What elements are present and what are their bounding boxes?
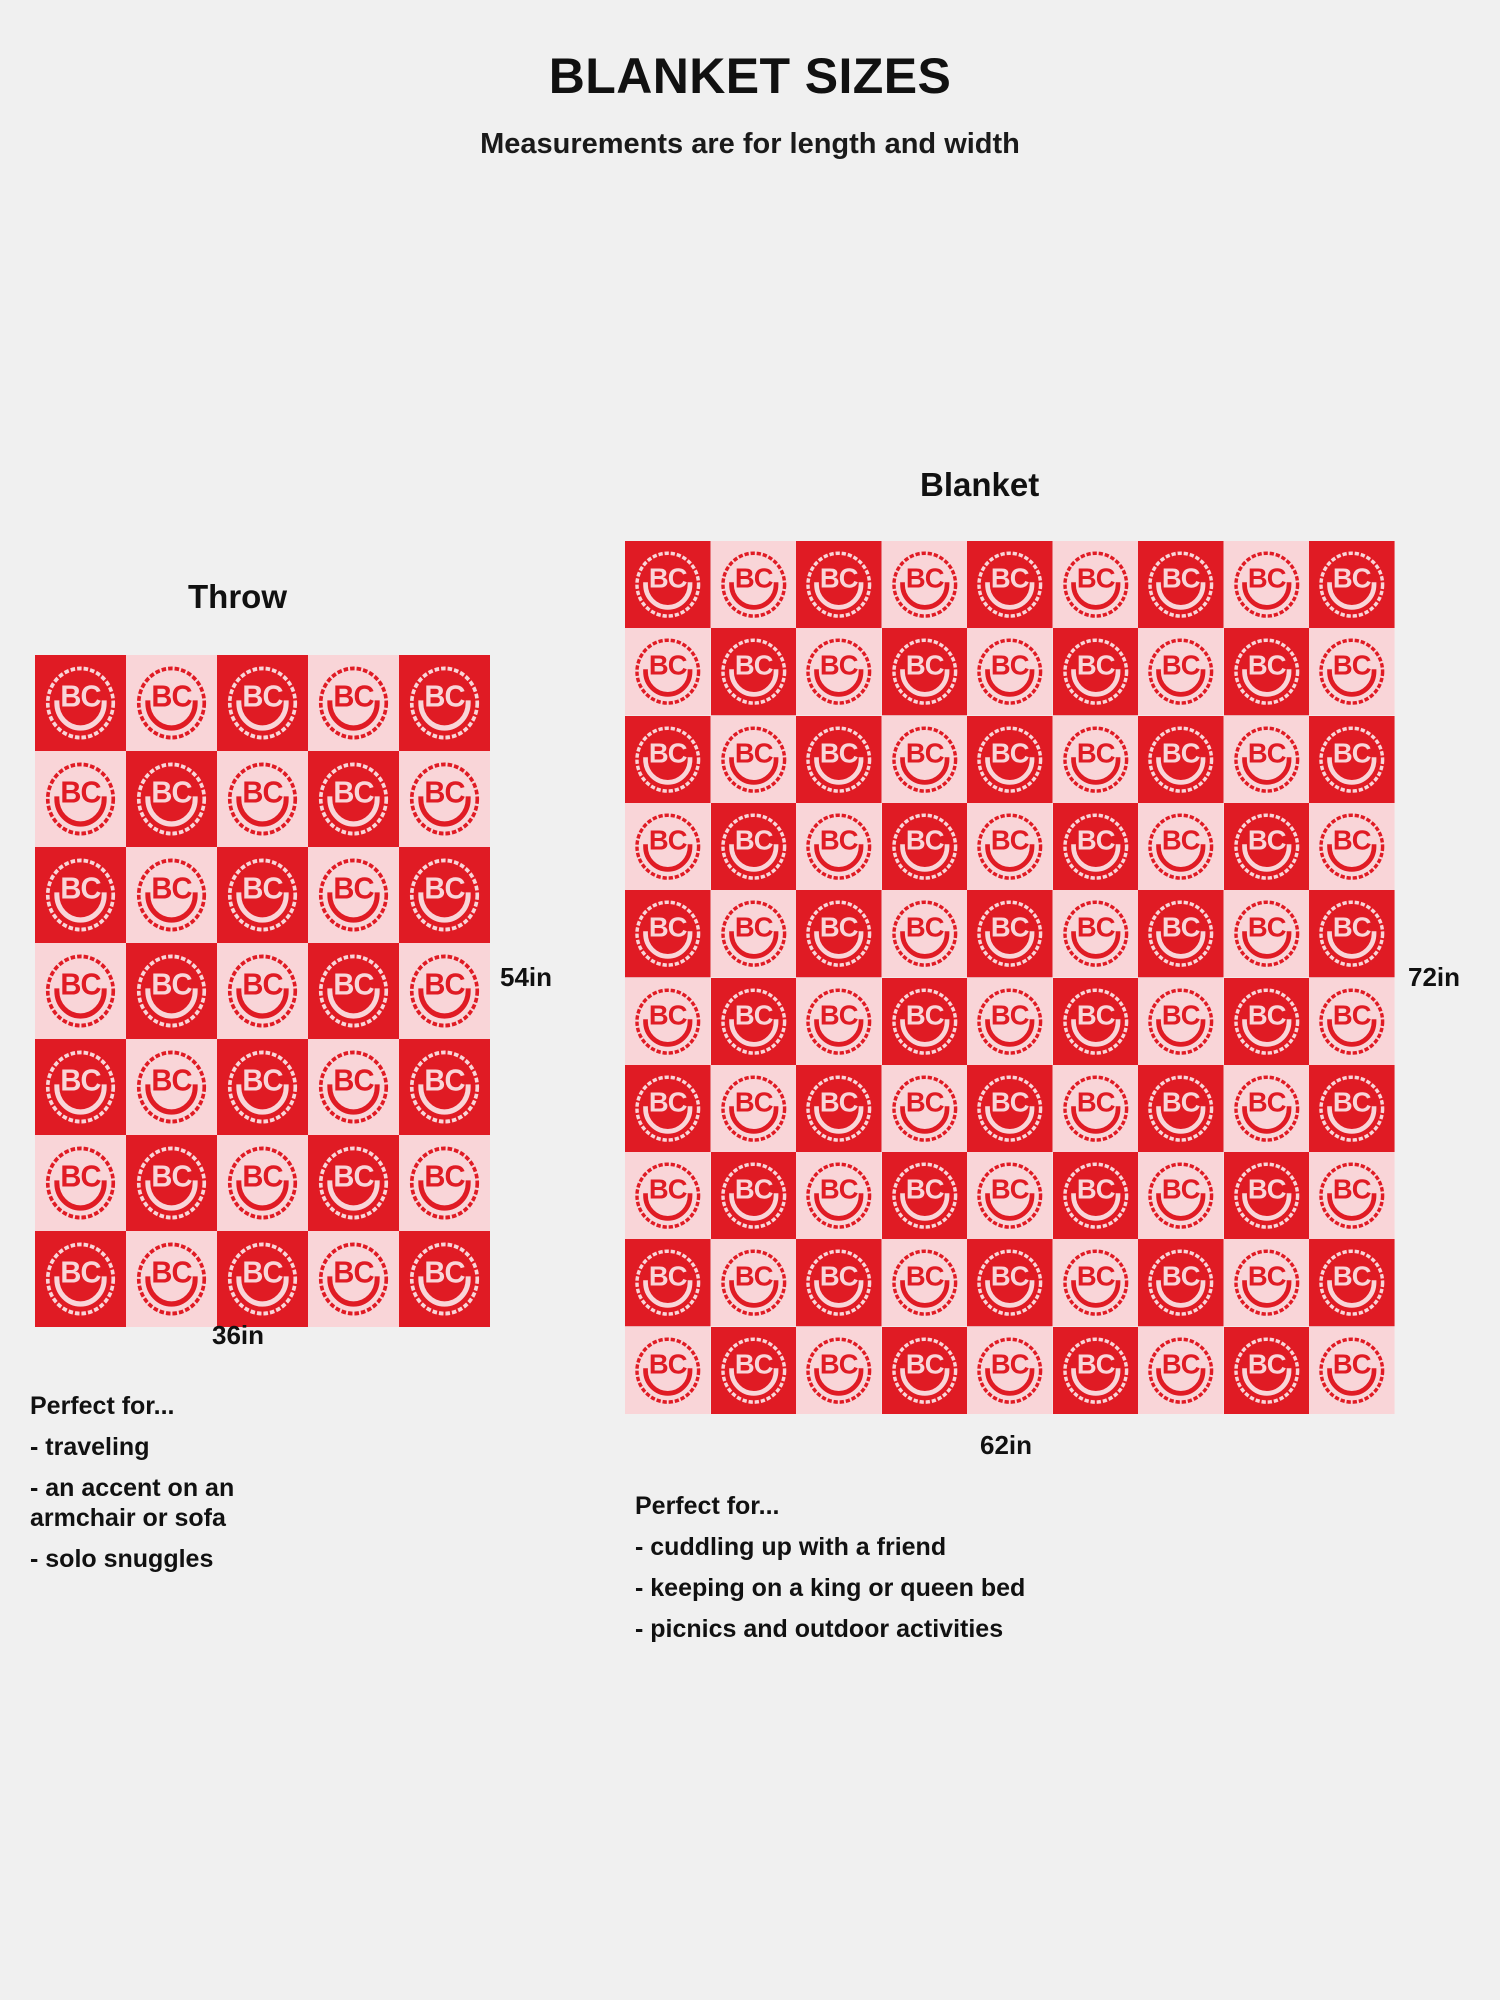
svg-text:BC: BC [151,1256,192,1290]
blanket-height-label: 72in [1408,962,1460,993]
svg-text:BC: BC [820,1348,859,1379]
blanket-blanket-swatch: BCBCBCBCBCBCBCBCBCBCBCBCBCBCBCBCBCBCBCBC… [625,541,1395,1414]
svg-text:BC: BC [991,1348,1030,1379]
blanket-tile: BC [796,1152,882,1239]
blanket-tile: BC [625,978,711,1065]
throw-product-label: Throw [188,578,287,616]
svg-text:BC: BC [734,912,773,943]
blanket-tile: BC [35,1039,126,1135]
blanket-product-label: Blanket [920,466,1039,504]
blanket-tile: BC [1224,628,1310,715]
blanket-perfect-for-block: Perfect for... - cuddling up with a frie… [635,1492,1235,1655]
blanket-tile: BC [1309,1327,1395,1414]
throw-perfect-for-block: Perfect for... - traveling- an accent on… [30,1392,450,1585]
svg-text:BC: BC [333,1256,374,1290]
blanket-tile: BC [796,541,882,628]
blanket-tile: BC [882,978,968,1065]
svg-text:BC: BC [1333,650,1372,681]
svg-text:BC: BC [820,912,859,943]
blanket-tile: BC [1053,1065,1139,1152]
svg-text:BC: BC [1162,1086,1201,1117]
svg-text:BC: BC [649,562,688,593]
blanket-tile: BC [882,890,968,977]
blanket-tile: BC [35,847,126,943]
throw-perfect-for-item: - solo snuggles [30,1544,450,1574]
blanket-tile: BC [711,716,797,803]
svg-text:BC: BC [1077,1348,1116,1379]
svg-text:BC: BC [1333,562,1372,593]
blanket-tile: BC [796,890,882,977]
svg-text:BC: BC [820,824,859,855]
blanket-tile: BC [126,655,217,751]
blanket-tile: BC [625,1152,711,1239]
svg-text:BC: BC [649,1261,688,1292]
svg-text:BC: BC [333,1064,374,1098]
svg-text:BC: BC [151,872,192,906]
blanket-tile: BC [711,1065,797,1152]
svg-text:BC: BC [906,1086,945,1117]
svg-text:BC: BC [991,999,1030,1030]
svg-text:BC: BC [820,562,859,593]
blanket-tile: BC [399,943,490,1039]
svg-text:BC: BC [333,680,374,714]
svg-text:BC: BC [649,824,688,855]
svg-text:BC: BC [151,680,192,714]
blanket-tile: BC [625,628,711,715]
svg-text:BC: BC [820,650,859,681]
svg-text:BC: BC [1333,1261,1372,1292]
blanket-tile: BC [1309,628,1395,715]
blanket-tile: BC [1224,1065,1310,1152]
blanket-tile: BC [1053,1152,1139,1239]
blanket-size-guide: BLANKET SIZES Measurements are for lengt… [0,0,1500,2000]
blanket-tile: BC [1224,1152,1310,1239]
blanket-tile: BC [796,628,882,715]
svg-text:BC: BC [60,872,101,906]
blanket-tile: BC [1138,1239,1224,1326]
blanket-tile: BC [882,1239,968,1326]
page-subtitle: Measurements are for length and width [0,129,1500,161]
svg-text:BC: BC [906,1261,945,1292]
svg-text:BC: BC [1077,650,1116,681]
blanket-perfect-for-item: - cuddling up with a friend [635,1532,1235,1562]
svg-text:BC: BC [151,1064,192,1098]
header: BLANKET SIZES Measurements are for lengt… [0,50,1500,160]
svg-text:BC: BC [649,912,688,943]
blanket-tile: BC [308,1135,399,1231]
svg-text:BC: BC [1077,1261,1116,1292]
svg-text:BC: BC [60,1064,101,1098]
svg-text:BC: BC [60,1256,101,1290]
svg-text:BC: BC [151,776,192,810]
svg-text:BC: BC [734,1261,773,1292]
throw-blanket-swatch: BCBCBCBCBCBCBCBCBCBCBCBCBCBCBCBCBCBCBCBC… [35,655,490,1327]
blanket-tile: BC [1053,1327,1139,1414]
blanket-tile: BC [967,1327,1053,1414]
svg-text:BC: BC [820,1261,859,1292]
blanket-tile: BC [1053,978,1139,1065]
blanket-perfect-for-item: - keeping on a king or queen bed [635,1573,1235,1603]
blanket-tile: BC [1053,890,1139,977]
svg-text:BC: BC [424,968,465,1002]
svg-text:BC: BC [242,776,283,810]
blanket-tile: BC [1138,541,1224,628]
throw-height-label: 54in [500,962,552,993]
blanket-tile: BC [1224,890,1310,977]
blanket-tile: BC [1309,1152,1395,1239]
blanket-tile: BC [1138,803,1224,890]
svg-text:BC: BC [906,824,945,855]
svg-text:BC: BC [151,1160,192,1194]
blanket-tile: BC [1224,1239,1310,1326]
svg-text:BC: BC [1077,562,1116,593]
blanket-tile: BC [1138,628,1224,715]
svg-text:BC: BC [991,1173,1030,1204]
blanket-tile: BC [711,628,797,715]
svg-text:BC: BC [1248,1261,1287,1292]
blanket-tile: BC [217,943,308,1039]
blanket-tile: BC [711,890,797,977]
svg-text:BC: BC [424,680,465,714]
blanket-tile: BC [399,751,490,847]
svg-text:BC: BC [1162,999,1201,1030]
blanket-tile: BC [35,1231,126,1327]
svg-text:BC: BC [1248,1348,1287,1379]
svg-text:BC: BC [1162,737,1201,768]
svg-text:BC: BC [906,999,945,1030]
blanket-tile: BC [796,1239,882,1326]
svg-text:BC: BC [1077,1086,1116,1117]
page-title: BLANKET SIZES [0,50,1500,103]
svg-text:BC: BC [991,1261,1030,1292]
svg-text:BC: BC [242,1160,283,1194]
blanket-tile: BC [1138,1152,1224,1239]
svg-text:BC: BC [906,562,945,593]
blanket-tile: BC [399,1039,490,1135]
blanket-tile: BC [1224,716,1310,803]
svg-text:BC: BC [649,650,688,681]
svg-text:BC: BC [424,1064,465,1098]
blanket-tile: BC [711,1152,797,1239]
blanket-tile: BC [399,1135,490,1231]
blanket-tile: BC [796,978,882,1065]
svg-text:BC: BC [1248,912,1287,943]
blanket-tile: BC [1309,978,1395,1065]
blanket-tile: BC [1309,1065,1395,1152]
blanket-tile: BC [1224,541,1310,628]
blanket-tile: BC [35,1135,126,1231]
svg-text:BC: BC [906,1173,945,1204]
svg-text:BC: BC [991,912,1030,943]
svg-text:BC: BC [906,737,945,768]
svg-text:BC: BC [1162,824,1201,855]
blanket-tile: BC [126,751,217,847]
svg-text:BC: BC [424,1160,465,1194]
svg-text:BC: BC [1162,650,1201,681]
svg-text:BC: BC [333,776,374,810]
blanket-tile: BC [625,541,711,628]
blanket-tile: BC [967,890,1053,977]
svg-text:BC: BC [242,1256,283,1290]
svg-text:BC: BC [734,824,773,855]
svg-text:BC: BC [1077,912,1116,943]
svg-text:BC: BC [333,968,374,1002]
blanket-tile: BC [308,655,399,751]
blanket-tile: BC [126,943,217,1039]
blanket-tile: BC [882,1065,968,1152]
svg-text:BC: BC [242,872,283,906]
blanket-tile: BC [1053,628,1139,715]
blanket-tile: BC [796,1327,882,1414]
blanket-tile: BC [711,803,797,890]
svg-text:BC: BC [1333,824,1372,855]
blanket-tile: BC [1309,716,1395,803]
blanket-tile: BC [625,1065,711,1152]
svg-text:BC: BC [1333,1086,1372,1117]
svg-text:BC: BC [649,737,688,768]
blanket-tile: BC [711,1239,797,1326]
svg-text:BC: BC [424,872,465,906]
svg-text:BC: BC [1248,737,1287,768]
svg-text:BC: BC [734,1348,773,1379]
throw-perfect-for-item: - traveling [30,1432,450,1462]
svg-text:BC: BC [991,1086,1030,1117]
svg-text:BC: BC [1248,1086,1287,1117]
svg-text:BC: BC [649,1173,688,1204]
svg-text:BC: BC [1333,1173,1372,1204]
svg-text:BC: BC [1162,1261,1201,1292]
svg-text:BC: BC [1248,999,1287,1030]
blanket-tile: BC [967,803,1053,890]
blanket-tile: BC [1309,541,1395,628]
svg-text:BC: BC [333,872,374,906]
blanket-width-label: 62in [980,1430,1032,1461]
throw-perfect-for-title: Perfect for... [30,1392,450,1421]
svg-text:BC: BC [649,999,688,1030]
blanket-tile: BC [308,943,399,1039]
blanket-tile: BC [1309,1239,1395,1326]
svg-text:BC: BC [820,999,859,1030]
svg-text:BC: BC [242,1064,283,1098]
blanket-tile: BC [308,751,399,847]
svg-text:BC: BC [649,1086,688,1117]
svg-text:BC: BC [242,968,283,1002]
blanket-tile: BC [1053,803,1139,890]
svg-text:BC: BC [734,650,773,681]
blanket-tile: BC [967,1065,1053,1152]
svg-text:BC: BC [424,1256,465,1290]
blanket-tile: BC [967,716,1053,803]
blanket-tile: BC [35,655,126,751]
svg-text:BC: BC [60,680,101,714]
blanket-tile: BC [1138,890,1224,977]
blanket-tile: BC [1053,716,1139,803]
blanket-tile: BC [882,541,968,628]
blanket-tile: BC [967,1239,1053,1326]
blanket-tile: BC [1053,1239,1139,1326]
blanket-tile: BC [625,890,711,977]
blanket-tile: BC [967,1152,1053,1239]
svg-text:BC: BC [734,1173,773,1204]
blanket-tile: BC [711,541,797,628]
svg-text:BC: BC [1162,1173,1201,1204]
svg-text:BC: BC [734,737,773,768]
svg-text:BC: BC [1333,912,1372,943]
blanket-perfect-for-title: Perfect for... [635,1492,1235,1521]
svg-text:BC: BC [734,999,773,1030]
throw-width-label: 36in [212,1320,264,1351]
svg-text:BC: BC [820,737,859,768]
blanket-tile: BC [126,1231,217,1327]
blanket-tile: BC [882,628,968,715]
throw-perfect-for-item: - an accent on an armchair or sofa [30,1473,450,1533]
svg-text:BC: BC [60,776,101,810]
blanket-tile: BC [967,541,1053,628]
svg-text:BC: BC [1248,650,1287,681]
blanket-tile: BC [711,978,797,1065]
blanket-perfect-for-item: - picnics and outdoor activities [635,1614,1235,1644]
blanket-tile: BC [625,803,711,890]
blanket-tile: BC [35,943,126,1039]
blanket-tile: BC [625,716,711,803]
svg-text:BC: BC [991,650,1030,681]
svg-text:BC: BC [649,1348,688,1379]
svg-text:BC: BC [991,737,1030,768]
blanket-tile: BC [217,751,308,847]
blanket-tile: BC [711,1327,797,1414]
blanket-tile: BC [399,847,490,943]
blanket-tile: BC [399,1231,490,1327]
svg-text:BC: BC [991,824,1030,855]
svg-text:BC: BC [906,912,945,943]
blanket-tile: BC [308,1231,399,1327]
blanket-tile: BC [217,847,308,943]
svg-text:BC: BC [242,680,283,714]
svg-text:BC: BC [1077,999,1116,1030]
svg-text:BC: BC [1248,1173,1287,1204]
svg-text:BC: BC [1077,824,1116,855]
blanket-tile: BC [126,847,217,943]
blanket-tile: BC [1309,890,1395,977]
svg-text:BC: BC [820,1086,859,1117]
blanket-tile: BC [967,978,1053,1065]
blanket-tile: BC [796,716,882,803]
blanket-tile: BC [217,1135,308,1231]
blanket-tile: BC [1138,716,1224,803]
svg-text:BC: BC [820,1173,859,1204]
blanket-tile: BC [35,751,126,847]
blanket-tile: BC [882,716,968,803]
blanket-tile: BC [308,847,399,943]
blanket-tile: BC [882,1327,968,1414]
blanket-tile: BC [126,1135,217,1231]
svg-text:BC: BC [1077,737,1116,768]
svg-text:BC: BC [991,562,1030,593]
blanket-tile: BC [967,628,1053,715]
blanket-tile: BC [882,803,968,890]
svg-text:BC: BC [1333,1348,1372,1379]
svg-text:BC: BC [151,968,192,1002]
blanket-tile: BC [1224,978,1310,1065]
blanket-tile: BC [625,1327,711,1414]
svg-text:BC: BC [906,650,945,681]
svg-text:BC: BC [333,1160,374,1194]
blanket-tile: BC [796,803,882,890]
svg-text:BC: BC [906,1348,945,1379]
blanket-tile: BC [882,1152,968,1239]
svg-text:BC: BC [1248,562,1287,593]
blanket-tile: BC [399,655,490,751]
svg-text:BC: BC [1162,912,1201,943]
svg-text:BC: BC [1248,824,1287,855]
blanket-tile: BC [796,1065,882,1152]
blanket-tile: BC [625,1239,711,1326]
blanket-tile: BC [1138,978,1224,1065]
blanket-tile: BC [217,1231,308,1327]
svg-text:BC: BC [60,1160,101,1194]
blanket-tile: BC [1309,803,1395,890]
blanket-tile: BC [217,1039,308,1135]
blanket-tile: BC [1224,803,1310,890]
blanket-tile: BC [126,1039,217,1135]
blanket-tile: BC [1053,541,1139,628]
blanket-tile: BC [217,655,308,751]
svg-text:BC: BC [60,968,101,1002]
svg-text:BC: BC [734,1086,773,1117]
blanket-tile: BC [1138,1327,1224,1414]
svg-text:BC: BC [1162,1348,1201,1379]
blanket-tile: BC [1224,1327,1310,1414]
svg-text:BC: BC [734,562,773,593]
svg-text:BC: BC [1162,562,1201,593]
blanket-tile: BC [308,1039,399,1135]
blanket-tile: BC [1138,1065,1224,1152]
svg-text:BC: BC [424,776,465,810]
svg-text:BC: BC [1077,1173,1116,1204]
svg-text:BC: BC [1333,999,1372,1030]
svg-text:BC: BC [1333,737,1372,768]
